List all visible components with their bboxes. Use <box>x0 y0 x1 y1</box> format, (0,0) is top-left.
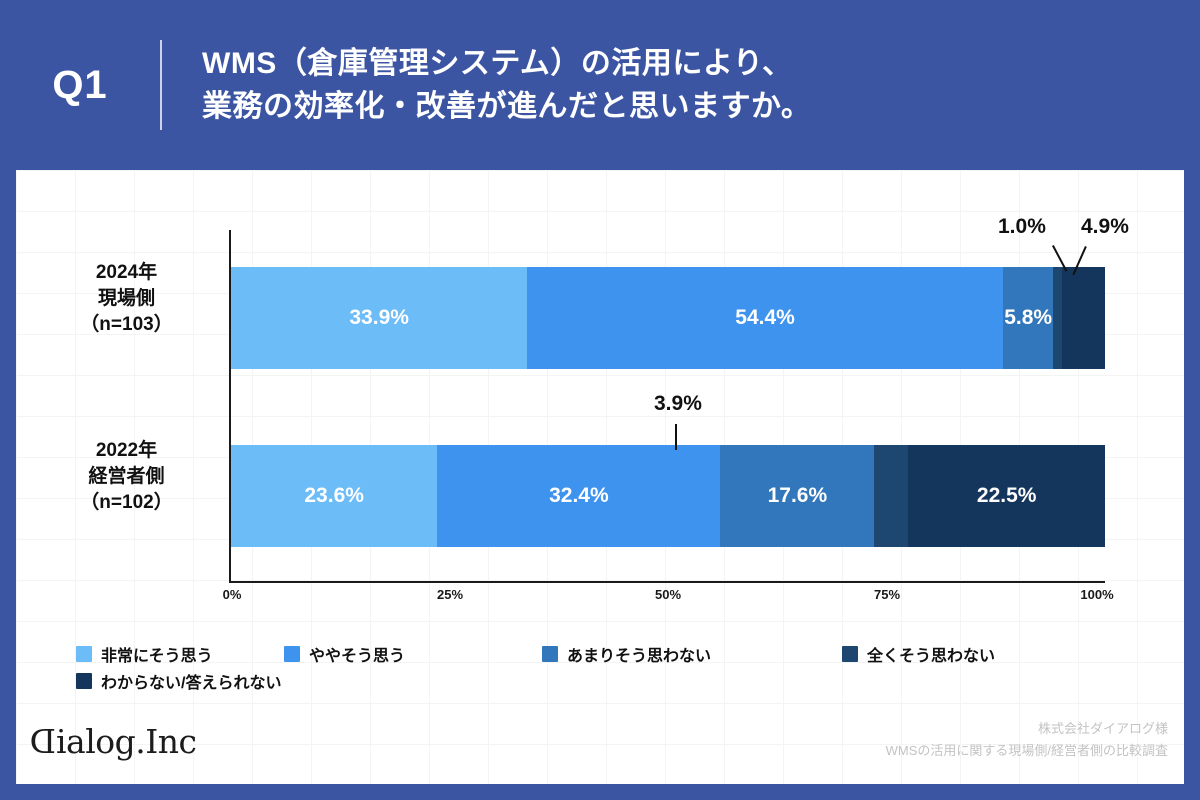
bar-segment-2022-very-agree[interactable]: 23.6% <box>231 445 437 547</box>
legend-item-dont-know[interactable]: わからない/答えられない <box>76 669 334 693</box>
x-tick-75: 75% <box>874 587 900 602</box>
legend-label-somewhat-disagree: あまりそう思わない <box>567 642 711 666</box>
legend-item-somewhat-agree[interactable]: ややそう思う <box>284 642 542 666</box>
callout-2022-strongly-disagree: 3.9% <box>654 392 702 416</box>
x-tick-50: 50% <box>655 587 681 602</box>
chart-card: 2024年 現場側 （n=103） 2022年 経営者側 （n=102） 33.… <box>16 170 1184 784</box>
legend-swatch-very-agree <box>76 646 92 662</box>
slide-header: Q1 WMS（倉庫管理システム）の活用により、 業務の効率化・改善が進んだと思い… <box>0 0 1200 170</box>
question-number: Q1 <box>0 63 160 108</box>
header-divider <box>160 40 162 130</box>
credit-survey: WMSの活用に関する現場側/経営者側の比較調査 <box>886 740 1168 762</box>
callout-2024-dont-know: 4.9% <box>1081 215 1129 239</box>
footer-credits: 株式会社ダイアログ様 WMSの活用に関する現場側/経営者側の比較調査 <box>886 718 1168 762</box>
legend-label-dont-know: わからない/答えられない <box>101 669 281 693</box>
legend-item-strongly-disagree[interactable]: 全くそう思わない <box>842 642 1050 666</box>
bar-2022[interactable]: 23.6% 32.4% 17.6% 22.5% <box>231 445 1105 547</box>
bar-segment-2022-strongly-disagree[interactable] <box>874 445 908 547</box>
legend-swatch-somewhat-disagree <box>542 646 558 662</box>
x-tick-100: 100% <box>1080 587 1113 602</box>
bar-segment-2024-somewhat-agree[interactable]: 54.4% <box>527 267 1003 369</box>
bar-segment-2022-dont-know[interactable]: 22.5% <box>908 445 1105 547</box>
legend-item-very-agree[interactable]: 非常にそう思う <box>76 642 284 666</box>
bar-2024[interactable]: 33.9% 54.4% 5.8% <box>231 267 1105 369</box>
dialog-logo: Dialog.Inc <box>30 722 197 761</box>
category-label-2022: 2022年 経営者側 （n=102） <box>44 438 209 517</box>
x-tick-0: 0% <box>223 587 242 602</box>
callout-2024-strongly-disagree: 1.0% <box>998 215 1046 239</box>
credit-client: 株式会社ダイアログ様 <box>886 718 1168 740</box>
legend-swatch-somewhat-agree <box>284 646 300 662</box>
x-axis-line <box>229 581 1105 583</box>
bar-segment-2024-dont-know[interactable] <box>1062 267 1105 369</box>
legend-label-somewhat-agree: ややそう思う <box>309 642 405 666</box>
callout-leader-2022-strongly-disagree <box>675 424 677 450</box>
legend-item-somewhat-disagree[interactable]: あまりそう思わない <box>542 642 842 666</box>
question-title: WMS（倉庫管理システム）の活用により、 業務の効率化・改善が進んだと思いますか… <box>202 42 811 129</box>
bar-segment-2024-somewhat-disagree[interactable]: 5.8% <box>1003 267 1054 369</box>
bar-segment-2022-somewhat-agree[interactable]: 32.4% <box>437 445 720 547</box>
slide: Q1 WMS（倉庫管理システム）の活用により、 業務の効率化・改善が進んだと思い… <box>0 0 1200 800</box>
x-tick-25: 25% <box>437 587 463 602</box>
logo-wordmark: ialog.Inc <box>56 722 197 761</box>
legend-label-strongly-disagree: 全くそう思わない <box>867 642 995 666</box>
bar-segment-2024-very-agree[interactable]: 33.9% <box>231 267 527 369</box>
legend-label-very-agree: 非常にそう思う <box>101 642 213 666</box>
bar-segment-2022-somewhat-disagree[interactable]: 17.6% <box>720 445 874 547</box>
question-title-line-1: WMS（倉庫管理システム）の活用により、 <box>202 42 811 86</box>
question-title-line-2: 業務の効率化・改善が進んだと思いますか。 <box>202 85 811 129</box>
bar-segment-2024-strongly-disagree[interactable] <box>1053 267 1062 369</box>
chart-plot-area: 2024年 現場側 （n=103） 2022年 経営者側 （n=102） 33.… <box>16 170 1184 784</box>
chart-legend: 非常にそう思う ややそう思う あまりそう思わない 全くそう思わない わからない/… <box>76 642 1076 696</box>
legend-swatch-strongly-disagree <box>842 646 858 662</box>
legend-swatch-dont-know <box>76 673 92 689</box>
logo-letter-d: D <box>30 722 56 761</box>
category-label-2024: 2024年 現場側 （n=103） <box>44 260 209 339</box>
